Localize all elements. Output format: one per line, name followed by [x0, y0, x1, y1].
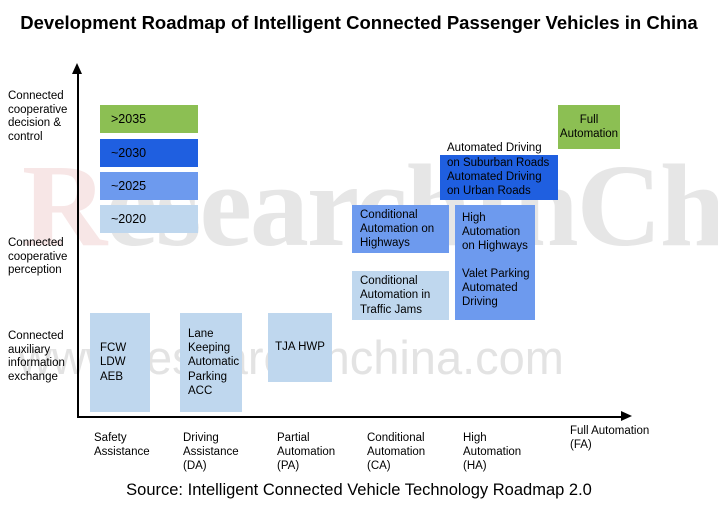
x-category-high-automation: High Automation (HA): [463, 431, 543, 473]
x-category-conditional-automation: Conditional Automation (CA): [367, 431, 447, 473]
label-automated-driving-note: Automated Driving: [447, 141, 542, 155]
y-category-decision-control: Connected cooperative decision & control: [8, 90, 74, 144]
x-category-partial-automation: Partial Automation (PA): [277, 431, 357, 473]
legend-item-2030[interactable]: ~2030: [100, 139, 198, 167]
block-conditional-automation-highways[interactable]: Conditional Automation on Highways: [352, 205, 449, 253]
block-full-automation[interactable]: Full Automation: [558, 105, 620, 149]
x-category-driving-assistance: Driving Assistance (DA): [183, 431, 263, 473]
roadmap-chart: ResearchInChina www.researchinchina.com …: [0, 0, 718, 517]
block-high-automation-highways: High Automation on Highways: [462, 211, 532, 254]
source-caption: Source: Intelligent Connected Vehicle Te…: [0, 481, 718, 500]
y-category-perception: Connected cooperative perception: [8, 237, 74, 278]
block-safety-assistance-items[interactable]: FCW LDW AEB: [90, 313, 150, 412]
legend-item-2025[interactable]: ~2025: [100, 172, 198, 200]
x-category-safety-assistance: Safety Assistance: [94, 431, 174, 459]
block-automated-driving-line2: Automated Driving: [447, 170, 542, 184]
x-axis-arrow-icon: [621, 411, 632, 421]
block-valet-parking-automated-driving: Valet Parking Automated Driving: [462, 267, 532, 310]
legend-item-2035[interactable]: >2035: [100, 105, 198, 133]
block-driving-assistance-items[interactable]: Lane Keeping Automatic Parking ACC: [180, 313, 242, 412]
block-partial-automation-items[interactable]: TJA HWP: [268, 313, 332, 382]
page-title: Development Roadmap of Intelligent Conne…: [14, 10, 704, 35]
y-category-info-exchange: Connected auxiliary information exchange: [8, 330, 74, 384]
block-automated-driving-line1: on Suburban Roads: [447, 156, 549, 170]
block-automated-driving-roads[interactable]: on Suburban Roads Automated Driving on U…: [440, 155, 558, 200]
x-axis-line: [77, 416, 623, 418]
block-conditional-automation-traffic-jams[interactable]: Conditional Automation in Traffic Jams: [352, 271, 449, 320]
y-axis-line: [77, 72, 79, 417]
block-high-automation-group[interactable]: High Automation on Highways Valet Parkin…: [455, 205, 535, 320]
x-category-full-automation: Full Automation (FA): [570, 424, 650, 452]
block-automated-driving-line3: on Urban Roads: [447, 184, 531, 198]
legend-item-2020[interactable]: ~2020: [100, 205, 198, 233]
